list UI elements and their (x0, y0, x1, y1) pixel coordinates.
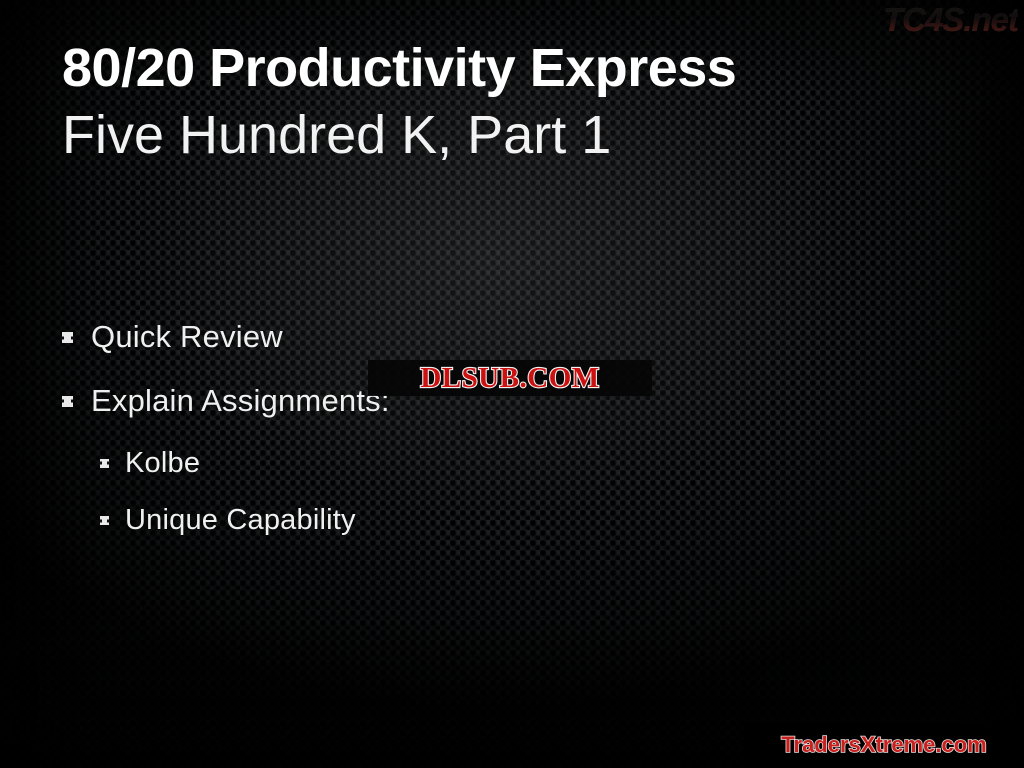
slide-title: 80/20 Productivity Express (62, 38, 962, 98)
bullet-item: Quick Review (62, 318, 942, 356)
sub-bullet-label: Kolbe (125, 446, 200, 481)
slide-title-block: 80/20 Productivity Express Five Hundred … (62, 38, 962, 167)
sub-bullet-item: Kolbe (62, 446, 942, 481)
bullet-label: Quick Review (91, 318, 283, 356)
bullet-list: Quick Review Explain Assignments: Kolbe … (62, 318, 942, 560)
bullet-marker-icon (100, 459, 109, 468)
slide-subtitle: Five Hundred K, Part 1 (62, 104, 962, 166)
sub-bullet-item: Unique Capability (62, 503, 942, 538)
watermark-bottom-right: TradersXtreme.com (744, 722, 1024, 768)
sub-bullet-label: Unique Capability (125, 503, 356, 538)
watermark-top-right: TC4S.net (883, 0, 1018, 40)
bullet-marker-icon (62, 332, 73, 343)
watermark-center: DLSUB.COM (368, 360, 652, 396)
slide-content: 80/20 Productivity Express Five Hundred … (0, 0, 1024, 768)
bullet-label: Explain Assignments: (91, 382, 390, 420)
bullet-marker-icon (62, 396, 73, 407)
bullet-marker-icon (100, 516, 109, 525)
slide: 80/20 Productivity Express Five Hundred … (0, 0, 1024, 768)
